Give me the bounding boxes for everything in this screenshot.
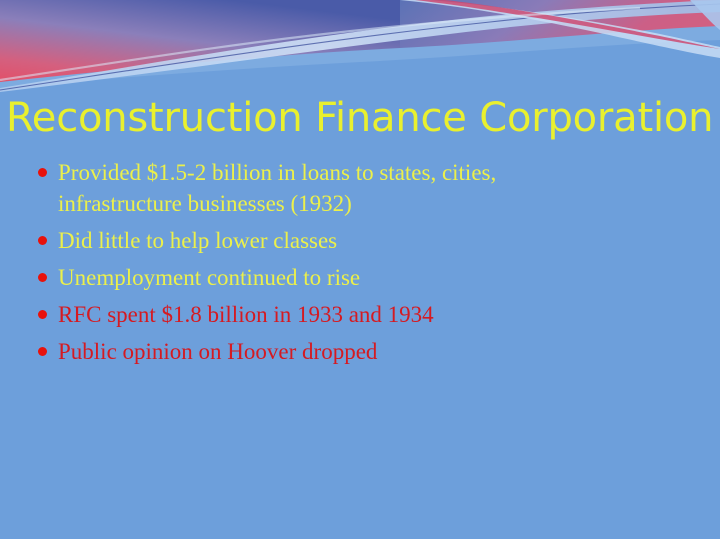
bullet-list: Provided $1.5-2 billion in loans to stat… bbox=[38, 157, 698, 373]
bullet-line: Provided $1.5-2 billion in loans to stat… bbox=[58, 157, 496, 188]
presentation-slide: Reconstruction Finance Corporation Provi… bbox=[0, 0, 720, 539]
list-item: Unemployment continued to rise bbox=[38, 262, 698, 293]
slide-title: Reconstruction Finance Corporation bbox=[6, 94, 714, 142]
bullet-text: Provided $1.5-2 billion in loans to stat… bbox=[58, 157, 496, 219]
bullet-dot-icon bbox=[38, 310, 47, 319]
bullet-text: Public opinion on Hoover dropped bbox=[58, 336, 377, 367]
bullet-dot-icon bbox=[38, 273, 47, 282]
bullet-line: Public opinion on Hoover dropped bbox=[58, 336, 377, 367]
bullet-text: RFC spent $1.8 billion in 1933 and 1934 bbox=[58, 299, 434, 330]
bullet-line: Did little to help lower classes bbox=[58, 225, 337, 256]
bullet-dot-icon bbox=[38, 236, 47, 245]
decorative-wave-banner bbox=[0, 0, 720, 92]
list-item: RFC spent $1.8 billion in 1933 and 1934 bbox=[38, 299, 698, 330]
bullet-text: Unemployment continued to rise bbox=[58, 262, 360, 293]
list-item: Provided $1.5-2 billion in loans to stat… bbox=[38, 157, 698, 219]
bullet-text: Did little to help lower classes bbox=[58, 225, 337, 256]
bullet-line: RFC spent $1.8 billion in 1933 and 1934 bbox=[58, 299, 434, 330]
bullet-line: Unemployment continued to rise bbox=[58, 262, 360, 293]
bullet-dot-icon bbox=[38, 168, 47, 177]
list-item: Public opinion on Hoover dropped bbox=[38, 336, 698, 367]
list-item: Did little to help lower classes bbox=[38, 225, 698, 256]
bullet-dot-icon bbox=[38, 347, 47, 356]
bullet-line: infrastructure businesses (1932) bbox=[58, 188, 496, 219]
